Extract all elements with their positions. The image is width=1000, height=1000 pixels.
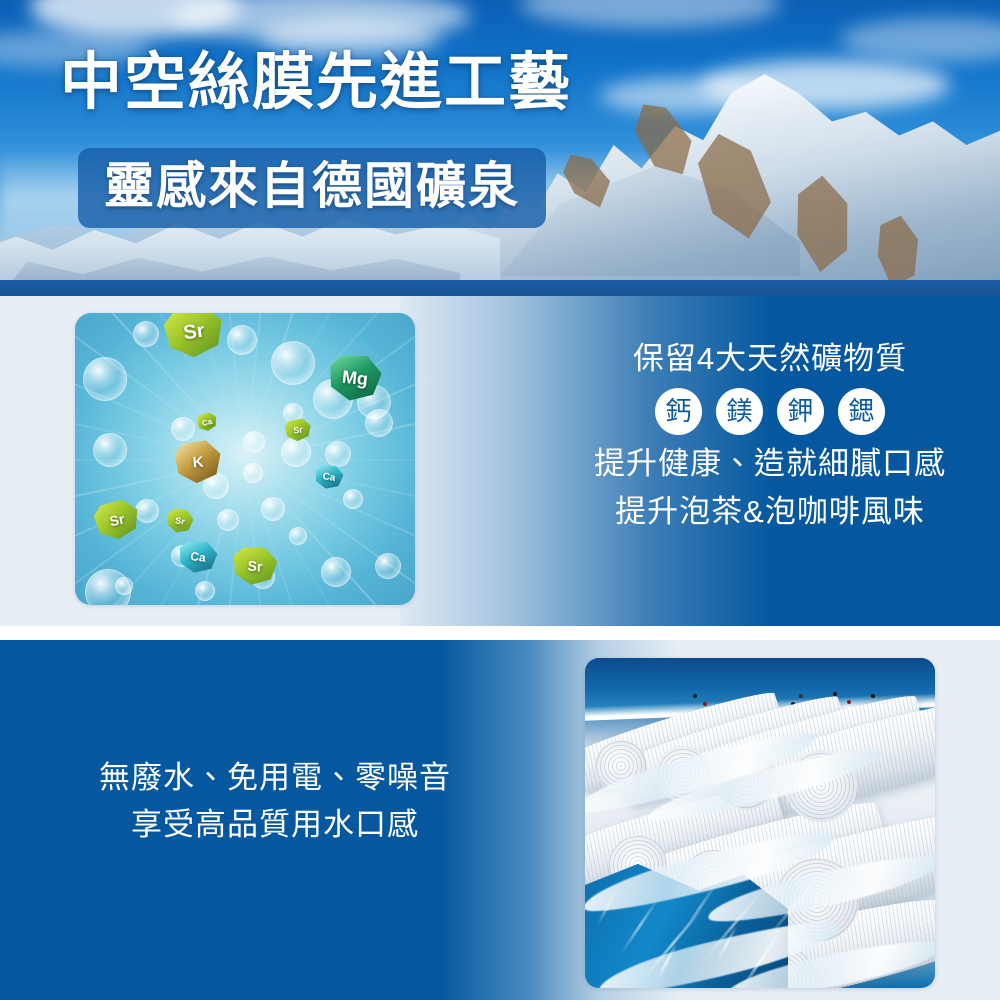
water-bubble [217,509,239,531]
mineral-badge-potassium: 鉀 [777,388,824,435]
water-bubble [93,433,127,467]
water-bubble [289,527,307,545]
mineral-crystals-image: SrMgKCaSrSrSrCaCaSr [75,313,415,605]
minerals-copy-block: 保留4大天然礦物質 鈣鎂鉀鍶 提升健康、造就細膩口感 提升泡茶&泡咖啡風味 [540,340,1000,532]
mineral-crystal-ca: Ca [313,463,344,491]
hero-bottom-bar [0,280,1000,296]
water-bubble [195,581,215,601]
mineral-badge-calcium: 鈣 [655,388,702,435]
minerals-headline: 保留4大天然礦物質 [540,340,1000,379]
contaminant-particle [703,702,707,706]
mineral-badge-magnesium: 鎂 [716,388,763,435]
water-bubble [271,341,315,385]
page-title: 中空絲膜先進工藝 [60,52,572,114]
water-bubble [83,357,127,401]
cloud-decoration [520,0,780,28]
infographic-page: 中空絲膜先進工藝 靈感來自德國礦泉 SrMgKCaSrSrSrCaCaSr 保留… [0,0,1000,1000]
minerals-section: SrMgKCaSrSrSrCaCaSr 保留4大天然礦物質 鈣鎂鉀鍶 提升健康、… [0,296,1000,626]
mineral-crystal-sr: Sr [92,497,143,543]
membrane-benefit-line-2: 享受高品質用水口感 [40,802,510,849]
membrane-benefit-line-1: 無廢水、免用電、零噪音 [40,755,510,802]
hero-banner: 中空絲膜先進工藝 靈感來自德國礦泉 [0,0,1000,296]
hero-subtitle-box: 靈感來自德國礦泉 [78,148,546,228]
cloud-decoration [840,18,1000,62]
water-bubble [343,489,363,509]
membrane-section: 無廢水、免用電、零噪音 享受高品質用水口感 [0,640,1000,1000]
hero-subtitle: 靈感來自德國礦泉 [104,159,520,214]
water-bubble [243,431,265,453]
contaminant-particle [871,694,875,698]
minerals-benefit-line-1: 提升健康、造就細膩口感 [540,443,1000,485]
water-bubble [171,417,195,441]
hollow-fiber-membrane-image [585,658,935,988]
mineral-badge-strontium: 鍶 [838,388,885,435]
contaminant-particle [847,700,851,704]
membrane-copy-block: 無廢水、免用電、零噪音 享受高品質用水口感 [40,755,510,848]
mineral-crystal-sr: Sr [165,507,195,535]
water-bubble [135,499,159,523]
water-bubble [261,497,285,521]
water-bubble [281,437,311,467]
water-bubble [321,557,351,587]
mineral-crystal-ca: Ca [195,411,219,433]
contaminant-particle [799,694,803,698]
water-bubble [243,463,263,483]
water-bubble [375,553,401,579]
section-divider [0,626,1000,640]
mineral-badge-row: 鈣鎂鉀鍶 [540,388,1000,435]
mineral-crystal-sr: Sr [162,313,226,361]
water-bubble [365,409,393,437]
minerals-benefit-line-2: 提升泡茶&泡咖啡風味 [540,491,1000,533]
water-bubble [133,321,159,347]
water-bubble [227,325,257,355]
water-bubble [325,441,351,467]
contaminant-particle [693,694,697,698]
water-bubble [115,577,133,595]
